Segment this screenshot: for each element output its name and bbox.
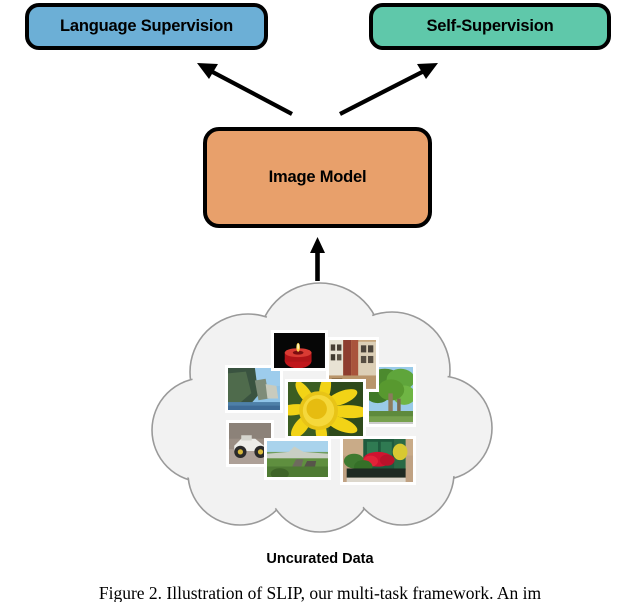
- node-image-model-label: Image Model: [269, 168, 367, 187]
- photo-coastal-cliff: [225, 365, 283, 413]
- uncurated-data-label: Uncurated Data: [0, 551, 640, 567]
- photo-riverside-path: [264, 438, 331, 480]
- node-language-supervision-label: Language Supervision: [60, 17, 233, 36]
- node-self-supervision-label: Self-Supervision: [427, 17, 554, 36]
- photo-flower-window-box: [340, 436, 416, 485]
- node-self-supervision[interactable]: Self-Supervision: [369, 3, 611, 50]
- photo-candle: [271, 330, 328, 371]
- photo-collage: [0, 0, 640, 602]
- node-language-supervision[interactable]: Language Supervision: [25, 3, 268, 50]
- node-image-model[interactable]: Image Model: [203, 127, 432, 228]
- figure-caption: Figure 2. Illustration of SLIP, our mult…: [0, 583, 640, 602]
- figure-canvas: Language Supervision Self-Supervision Im…: [0, 0, 640, 602]
- photo-sunflower: [285, 379, 366, 439]
